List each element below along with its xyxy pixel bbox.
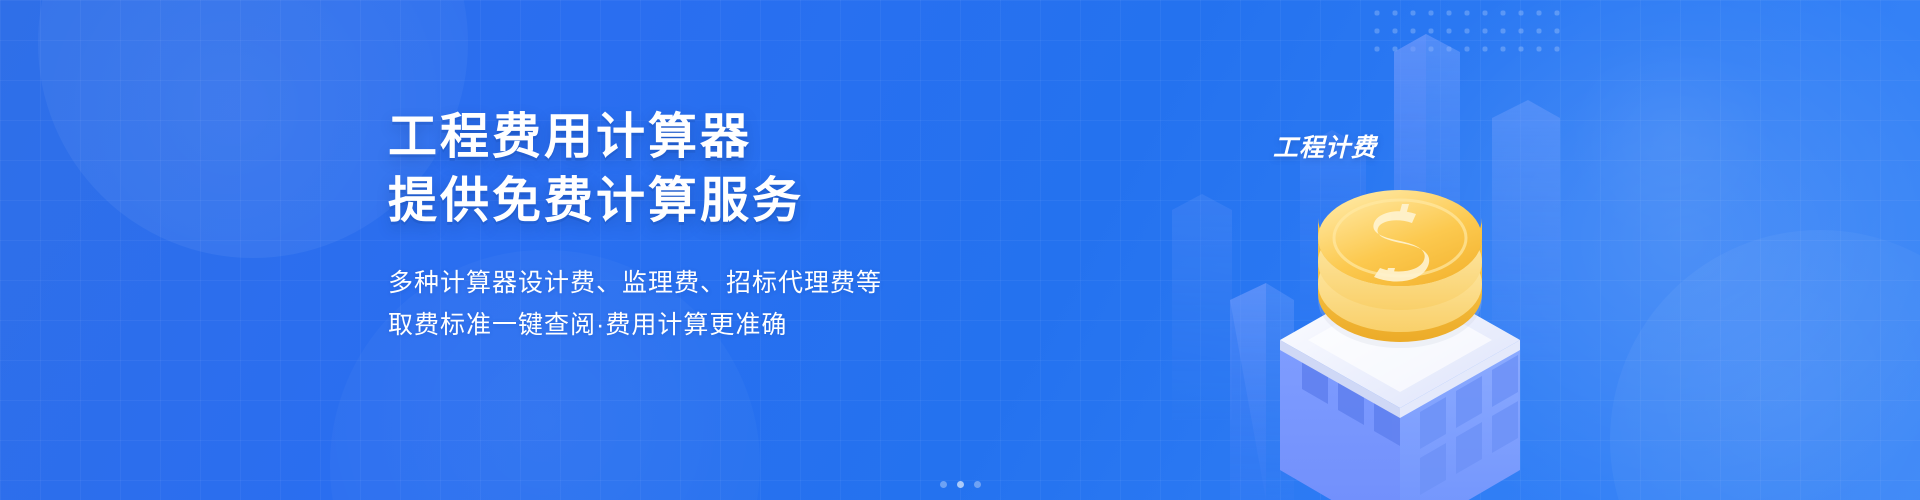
- banner-subline-1: 多种计算器设计费、监理费、招标代理费等: [388, 262, 1008, 304]
- coin-stack: [1318, 190, 1482, 348]
- carousel-dot-3[interactable]: [974, 481, 981, 488]
- banner-subline-2: 取费标准一键查阅·费用计算更准确: [388, 304, 1008, 346]
- illustration-label: 工程计费: [1273, 128, 1377, 164]
- banner-headline-line2: 提供免费计算服务: [388, 170, 1008, 232]
- hero-banner: 工程费用计算器 提供免费计算服务 多种计算器设计费、监理费、招标代理费等 取费标…: [0, 0, 1920, 500]
- decorative-circle-bottom-right: [1610, 230, 1920, 500]
- carousel-dot-1[interactable]: [940, 481, 947, 488]
- carousel-pagination[interactable]: [0, 481, 1920, 488]
- illustration: 工程计费: [1080, 0, 1640, 500]
- banner-subcopy: 多种计算器设计费、监理费、招标代理费等 取费标准一键查阅·费用计算更准确: [388, 262, 1008, 346]
- illustration-svg: [1080, 0, 1640, 500]
- carousel-dot-2[interactable]: [957, 481, 964, 488]
- banner-headline-line1: 工程费用计算器: [388, 106, 1008, 168]
- banner-copy: 工程费用计算器 提供免费计算服务 多种计算器设计费、监理费、招标代理费等 取费标…: [388, 106, 1008, 346]
